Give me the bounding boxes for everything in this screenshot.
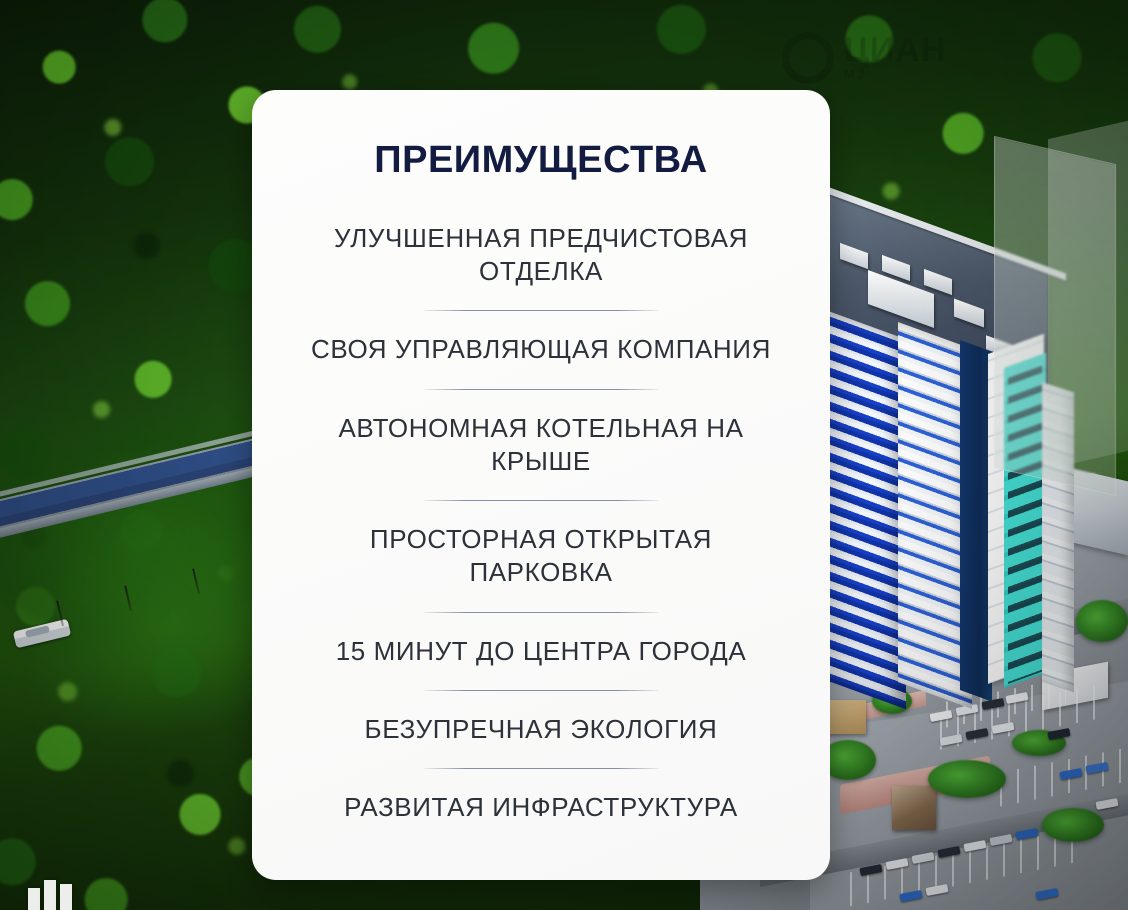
list-item: 15 МИНУТ ДО ЦЕНТРА ГОРОДА <box>298 635 784 668</box>
advantages-card: ПРЕИМУЩЕСТВА УЛУЧШЕННАЯ ПРЕДЧИСТОВАЯ ОТД… <box>252 90 830 880</box>
landscape-island <box>1042 808 1104 842</box>
list-item: АВТОНОМНАЯ КОТЕЛЬНАЯ НА КРЫШЕ <box>298 412 784 479</box>
list-divider <box>424 389 659 390</box>
kiosk <box>892 786 936 830</box>
list-divider <box>424 768 659 769</box>
promo-slide: ЦИАН М2 ПРЕИМУЩЕСТВА УЛУЧШЕННАЯ ПРЕДЧИСТ… <box>0 0 1128 910</box>
list-divider <box>424 310 659 311</box>
list-item: ПРОСТОРНАЯ ОТКРЫТАЯ ПАРКОВКА <box>298 523 784 590</box>
ghost-future-block-secondary <box>1048 121 1128 469</box>
landscape-island <box>928 760 1006 798</box>
logo-bar <box>28 888 40 910</box>
brand-logo-icon <box>28 876 76 910</box>
pavilion-small <box>826 700 866 734</box>
logo-bar <box>44 880 56 910</box>
list-divider <box>424 612 659 613</box>
page-title: ПРЕИМУЩЕСТВА <box>298 132 784 182</box>
list-item: РАЗВИТАЯ ИНФРАСТРУКТУРА <box>298 791 784 824</box>
advantages-list: УЛУЧШЕННАЯ ПРЕДЧИСТОВАЯ ОТДЕЛКА СВОЯ УПР… <box>298 222 784 825</box>
list-divider <box>424 500 659 501</box>
list-item: УЛУЧШЕННАЯ ПРЕДЧИСТОВАЯ ОТДЕЛКА <box>298 222 784 289</box>
building-wing-blue <box>820 308 906 709</box>
logo-bar <box>60 884 72 910</box>
list-item: СВОЯ УПРАВЛЯЮЩАЯ КОМПАНИЯ <box>298 333 784 366</box>
list-divider <box>424 690 659 691</box>
list-item: БЕЗУПРЕЧНАЯ ЭКОЛОГИЯ <box>298 713 784 746</box>
